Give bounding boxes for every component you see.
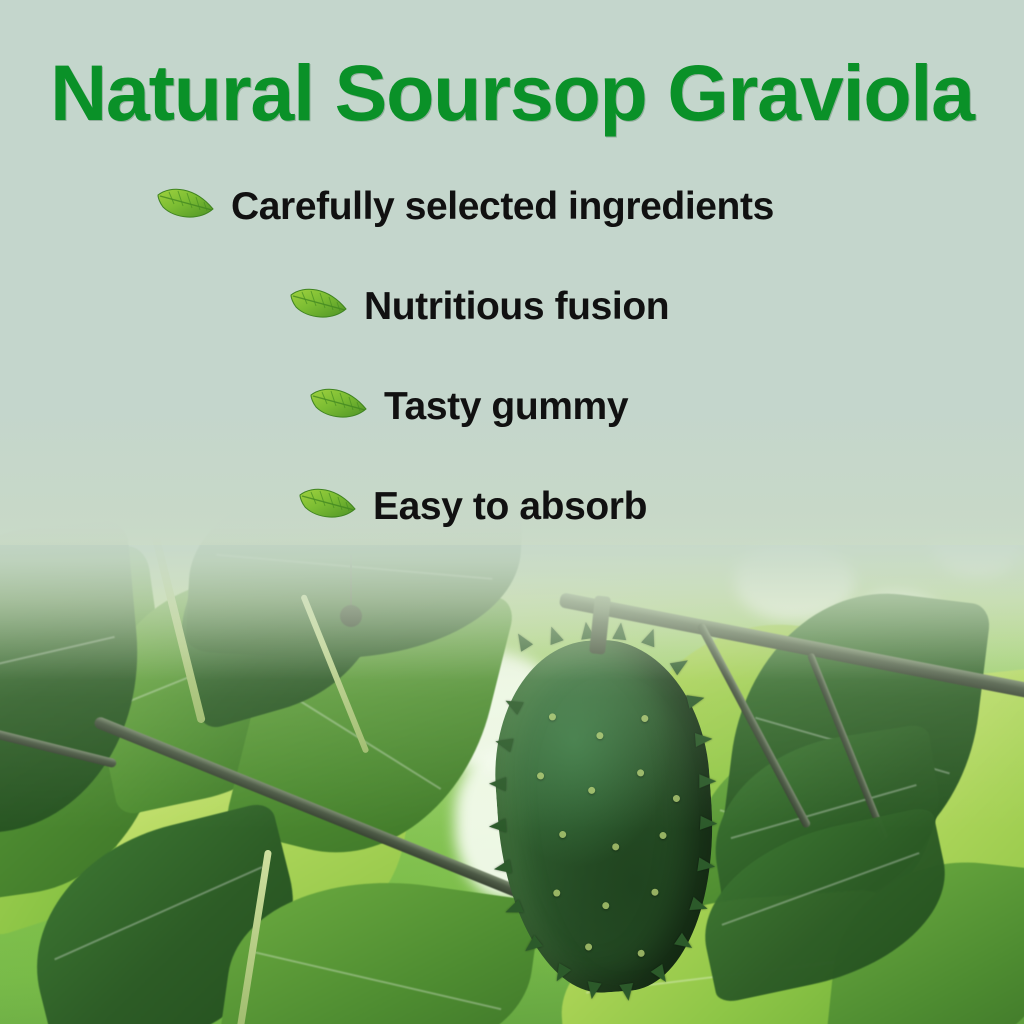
list-item: Carefully selected ingredients (0, 172, 1024, 240)
fruit-bump (637, 950, 644, 957)
fruit-spike (493, 859, 512, 876)
fruit-spike (488, 818, 506, 833)
leaf-vein (0, 636, 115, 685)
list-item: Easy to absorb (0, 472, 1024, 540)
leaf-icon (308, 383, 370, 429)
fruit-spike (699, 774, 716, 788)
hanging-seed-pod-head (340, 605, 362, 627)
fruit-bump (641, 715, 648, 722)
fruit-spike (700, 816, 718, 831)
fruit-spike (619, 983, 635, 1002)
list-item-label: Carefully selected ingredients (231, 187, 774, 226)
list-item-label: Nutritious fusion (364, 287, 669, 326)
fruit-spike (585, 981, 602, 1000)
fruit-bump (602, 902, 609, 909)
fruit-spike (697, 857, 716, 873)
fruit-bump (673, 795, 680, 802)
list-item: Tasty gummy (0, 372, 1024, 440)
leaf-icon (155, 183, 217, 229)
fruit-spike (494, 735, 514, 753)
fruit-bump (659, 832, 666, 839)
fruit-bump (553, 889, 560, 896)
content-panel: Natural Soursop Graviola (0, 0, 1024, 545)
fruit-bump (596, 732, 603, 739)
fruit-spike (489, 777, 506, 792)
product-poster: Natural Soursop Graviola (0, 0, 1024, 1024)
fruit-bump (537, 772, 544, 779)
leaf-icon (288, 283, 350, 329)
leaf-vein (722, 852, 920, 926)
list-item-label: Tasty gummy (384, 387, 628, 426)
fruit-bump (585, 943, 592, 950)
fruit-bump (612, 843, 619, 850)
list-item: Nutritious fusion (0, 272, 1024, 340)
soursop-photo (0, 500, 1024, 1024)
fruit-spike (695, 732, 713, 747)
leaf-icon (297, 483, 359, 529)
page-title: Natural Soursop Graviola (0, 52, 1024, 135)
leaf-vein (54, 866, 262, 960)
fruit-bump (549, 713, 556, 720)
fruit-bump (559, 831, 566, 838)
fruit-bump (651, 888, 658, 895)
leaf-vein (255, 951, 501, 1010)
fruit-bump (637, 769, 644, 776)
feature-list: Carefully selected ingredients (0, 172, 1024, 572)
fruit-spike (612, 622, 628, 640)
fruit-bump (588, 787, 595, 794)
list-item-label: Easy to absorb (373, 487, 647, 526)
